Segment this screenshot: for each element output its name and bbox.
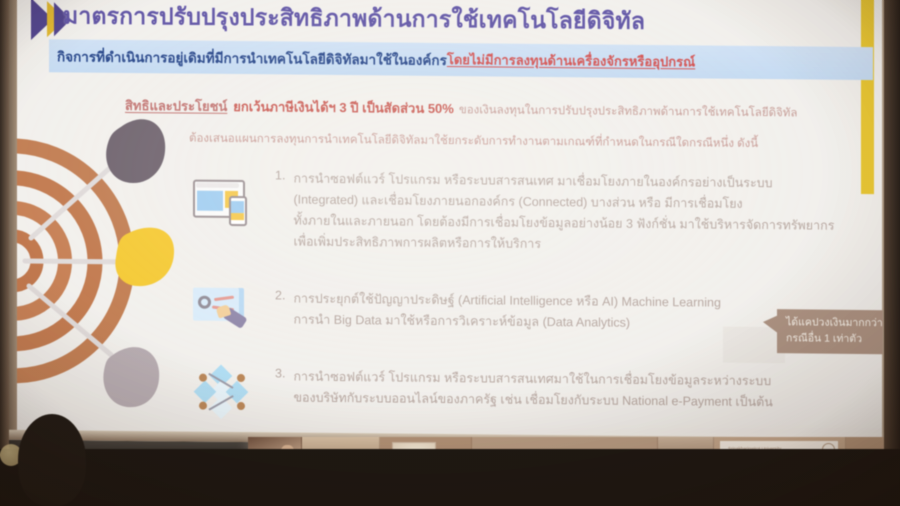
projection-screen: สำนักงานคณะกรรมการส่งเสริมการลงทุน มาตรก… <box>8 0 882 448</box>
list-item: 1. การนำซอฟต์แวร์ โปรแกรม หรือระบบสารสนเ… <box>275 168 875 258</box>
callout-note: ได้แคปวงเงินมากกว่า กรณีอื่น 1 เท่าตัว <box>777 309 883 354</box>
presentation-slide: สำนักงานคณะกรรมการส่งเสริมการลงทุน มาตรก… <box>17 0 883 438</box>
slide-banner: กิจการที่ดำเนินการอยู่เดิมที่มีการนำเทคโ… <box>49 39 873 80</box>
room-right-wall <box>884 0 900 506</box>
callout-line-2: กรณีอื่น 1 เท่าตัว <box>786 330 883 347</box>
item-line: การนำ Big Data มาใช้หรือการวิเคราะห์ข้อม… <box>293 310 720 335</box>
slide-title: มาตรการปรับปรุงประสิทธิภาพด้านการใช้เทคโ… <box>63 0 763 41</box>
room-left-wall <box>0 0 9 449</box>
photo-scene: สำนักงานคณะกรรมการส่งเสริมการลงทุน มาตรก… <box>0 0 900 506</box>
callout-tail <box>763 315 778 333</box>
banner-blue-text: กิจการที่ดำเนินการอยู่เดิมที่มีการนำเทคโ… <box>57 45 447 71</box>
decorative-arcs-and-blobs <box>17 86 267 428</box>
blob-purple <box>106 119 165 183</box>
condition-line: ต้องเสนอแผนการลงทุนการนำเทคโนโลยีดิจิทัล… <box>189 130 883 155</box>
item-line: ของบริษัทกับระบบออนไลน์ของภาครัฐ เช่น เช… <box>293 388 772 414</box>
item-body: การประยุกต์ใช้ปัญญาประดิษฐ์ (Artificial … <box>293 289 720 335</box>
blob-gray <box>103 347 159 408</box>
item-number: 3. <box>275 366 285 408</box>
benefit-rest: ของเงินลงทุนในการปรับปรุงประสิทธิภาพด้าน… <box>459 101 798 122</box>
blob-yellow <box>115 227 174 286</box>
item-body: การนำซอฟต์แวร์ โปรแกรม หรือระบบสารสนเทศ … <box>293 169 834 258</box>
audience-head-silhouette <box>18 414 86 506</box>
screen-frame-left <box>8 0 17 436</box>
dark-room-foreground <box>0 449 900 506</box>
item-body: การนำซอฟต์แวร์ โปรแกรม หรือระบบสารสนเทศม… <box>293 367 772 414</box>
callout-line-1: ได้แคปวงเงินมากกว่า <box>786 314 883 331</box>
item-number: 1. <box>275 168 285 252</box>
list-item: 3. การนำซอฟต์แวร์ โปรแกรม หรือระบบสารสนเ… <box>275 366 875 414</box>
banner-red-underlined-text: โดยไม่มีการลงทุนด้านเครื่องจักรหรืออุปกร… <box>447 49 695 72</box>
item-number: 2. <box>275 288 285 330</box>
